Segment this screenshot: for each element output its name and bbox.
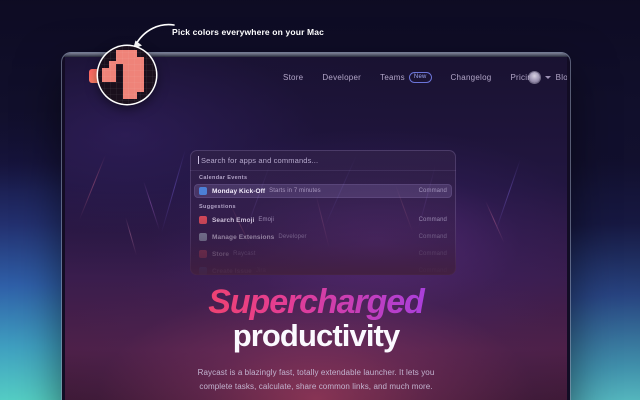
palette-row-subtitle: Jira xyxy=(256,268,266,274)
background-streak xyxy=(495,159,521,233)
annotation-tooltip: Pick colors everywhere on your Mac xyxy=(172,27,324,37)
nav-item-blog[interactable]: Blog xyxy=(556,73,567,82)
palette-row-kind: Command xyxy=(419,251,447,257)
background-streak xyxy=(125,217,137,256)
nav-teams-new-badge: New xyxy=(409,72,432,83)
palette-row-kind: Command xyxy=(419,217,447,223)
text-caret xyxy=(198,156,199,164)
nav-account-area[interactable] xyxy=(529,57,551,97)
palette-row-subtitle: Developer xyxy=(278,234,306,240)
palette-row[interactable]: StoreRaycastCommand xyxy=(194,247,452,261)
palette-row-subtitle: Raycast xyxy=(233,251,255,257)
color-picker-loupe-icon xyxy=(98,46,156,104)
background-streak xyxy=(143,181,160,231)
palette-row-kind: Command xyxy=(419,268,447,274)
hero-headline-main: productivity xyxy=(65,319,567,354)
palette-row-kind: Command xyxy=(419,188,447,194)
hero-subtitle-line1: Raycast is a blazingly fast, totally ext… xyxy=(65,366,567,379)
nav-item-teams[interactable]: Teams New xyxy=(380,72,431,83)
palette-row-title: Search Emoji xyxy=(212,217,254,224)
palette-row[interactable]: Search EmojiEmojiCommand xyxy=(194,213,452,227)
palette-section-title: Calendar Events xyxy=(199,175,247,181)
store-icon xyxy=(199,250,207,258)
palette-row-subtitle: Emoji xyxy=(258,217,274,223)
hero-subtitle: Raycast is a blazingly fast, totally ext… xyxy=(65,366,567,392)
browser-window[interactable]: Raycast Store Developer Teams New Change… xyxy=(62,53,570,400)
hero-section: Supercharged productivity Raycast is a b… xyxy=(65,285,567,393)
palette-row-title: Store xyxy=(212,251,229,258)
palette-row-title: Create Issue xyxy=(212,268,252,275)
screenshot-stage: Raycast Store Developer Teams New Change… xyxy=(0,0,640,400)
palette-row-kind: Command xyxy=(419,234,447,240)
hero-subtitle-line2: complete tasks, calculate, share common … xyxy=(65,380,567,393)
background-streak xyxy=(485,201,505,243)
nav-item-store[interactable]: Store xyxy=(283,73,303,82)
emoji-icon xyxy=(199,216,207,224)
nav-links: Store Developer Teams New Changelog Pric… xyxy=(283,57,567,97)
nav-item-developer[interactable]: Developer xyxy=(322,73,361,82)
calendar-icon xyxy=(199,187,207,195)
user-avatar[interactable] xyxy=(529,72,540,83)
palette-row-title: Manage Extensions xyxy=(212,234,274,241)
palette-row[interactable]: Create IssueJiraCommand xyxy=(194,264,452,275)
palette-search-bar[interactable]: Search for apps and commands... xyxy=(190,150,456,171)
background-streak xyxy=(161,149,186,234)
nav-item-changelog[interactable]: Changelog xyxy=(451,73,492,82)
palette-row-title: Monday Kick-Off xyxy=(212,188,265,195)
palette-row[interactable]: Monday Kick-OffStarts in 7 minutesComman… xyxy=(194,184,452,198)
chevron-down-icon[interactable] xyxy=(545,76,551,79)
nav-item-teams-label[interactable]: Teams xyxy=(380,73,405,82)
extensions-icon xyxy=(199,233,207,241)
background-streak xyxy=(79,155,106,220)
hero-headline-accent: Supercharged xyxy=(65,285,567,320)
command-palette[interactable]: Search for apps and commands... Calendar… xyxy=(190,150,456,275)
loupe-pixel-grid xyxy=(98,46,156,104)
palette-section-title: Suggestions xyxy=(199,204,236,210)
search-input[interactable]: Search for apps and commands... xyxy=(201,156,318,165)
palette-row[interactable]: Manage ExtensionsDeveloperCommand xyxy=(194,230,452,244)
webpage-viewport: Raycast Store Developer Teams New Change… xyxy=(65,57,567,400)
issue-icon xyxy=(199,267,207,275)
palette-row-subtitle: Starts in 7 minutes xyxy=(269,188,321,194)
